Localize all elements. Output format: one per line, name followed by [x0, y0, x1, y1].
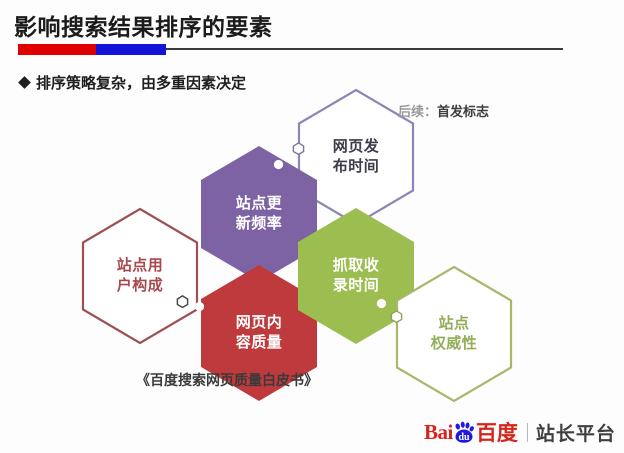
baidu-paw-icon: du: [452, 421, 475, 444]
baidu-du-text: du: [458, 432, 470, 443]
baidu-platform-label: 站长平台: [536, 419, 616, 446]
logo-separator: [527, 423, 528, 442]
divider-red-block: [18, 44, 96, 55]
bullet-text: 排序策略复杂，由多重因素决定: [36, 72, 246, 93]
baidu-bai-text: Bai: [424, 420, 453, 445]
baidu-brand-cn: 百度: [476, 417, 518, 447]
divider-blue-block: [96, 44, 166, 55]
baidu-logo[interactable]: Bai du 百度 站长平台: [424, 419, 616, 445]
hexagon-user-composition[interactable]: 站点用 户构成: [80, 207, 200, 345]
circle-node-icon: [375, 297, 388, 310]
hexagon-label: 站点用 户构成: [80, 207, 200, 345]
connector-node-update-frequency[interactable]: [272, 158, 285, 171]
connector-node-publish-time[interactable]: [292, 142, 305, 155]
connector-node-crawl-index-time[interactable]: [375, 297, 388, 310]
title-divider: [18, 44, 563, 55]
bullet-point: 排序策略复杂，由多重因素决定: [20, 72, 246, 93]
diagram-caption: 《百度搜索网页质量白皮书》: [136, 370, 318, 390]
slide-canvas: 影响搜索结果排序的要素 排序策略复杂，由多重因素决定 网页发 布时间 站点更 新…: [0, 0, 624, 453]
hexagon-site-authority[interactable]: 站点 权威性: [394, 265, 514, 403]
circle-node-icon: [272, 158, 285, 171]
connector-node-content-quality[interactable]: [193, 300, 206, 313]
connector-node-user-composition[interactable]: [176, 295, 189, 308]
annotation-emphasis: 首发标志: [437, 104, 489, 119]
annotation-prefix: 后续：: [398, 104, 437, 119]
connector-node-site-authority[interactable]: [390, 310, 403, 323]
hexagon-node-icon: [390, 310, 403, 323]
hexagon-label: 站点 权威性: [394, 265, 514, 403]
hexagon-node-icon: [292, 142, 305, 155]
diamond-bullet-icon: [18, 76, 31, 89]
page-title: 影响搜索结果排序的要素: [14, 8, 273, 42]
hexagon-node-icon: [176, 295, 189, 308]
circle-node-icon: [193, 300, 206, 313]
annotation-first-publish: 后续：首发标志: [398, 101, 489, 120]
